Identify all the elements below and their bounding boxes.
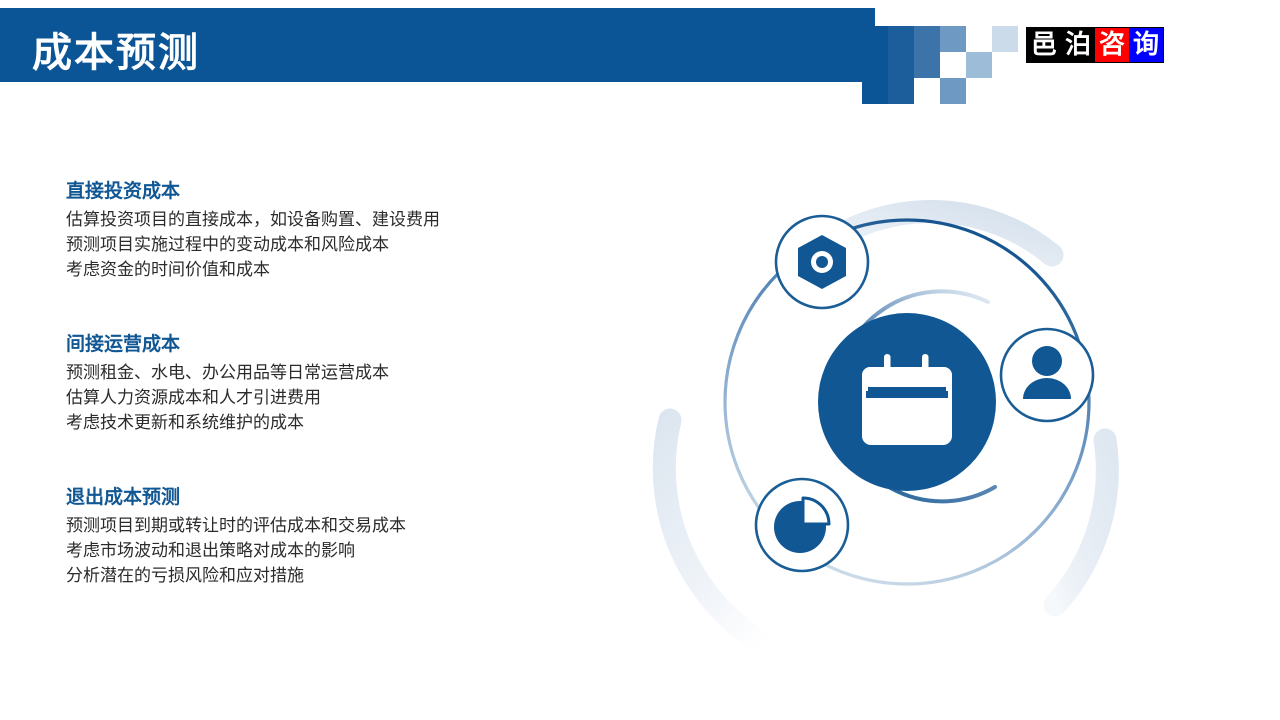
logo-char-bo: 泊 [1061,28,1095,62]
mosaic-tile [992,26,1018,52]
content-blocks: 直接投资成本 估算投资项目的直接成本，如设备购置、建设费用 预测项目实施过程中的… [66,178,536,589]
block-line: 估算投资项目的直接成本，如设备购置、建设费用 [66,208,536,233]
block-title: 直接投资成本 [66,178,536,205]
content-block-indirect-operating: 间接运营成本 预测租金、水电、办公用品等日常运营成本 估算人力资源成本和人才引进… [66,331,536,436]
orbital-icon-diagram [600,95,1200,695]
content-block-direct-investment: 直接投资成本 估算投资项目的直接成本，如设备购置、建设费用 预测项目实施过程中的… [66,178,536,283]
satellite-person [1001,329,1093,421]
mosaic-tile [888,26,914,52]
block-title: 退出成本预测 [66,484,536,511]
block-line: 预测项目实施过程中的变动成本和风险成本 [66,233,536,258]
checkerboard-decoration [862,8,1012,90]
logo-char-yi: 邑 [1027,28,1061,62]
logo-char-zi: 咨 [1095,28,1129,62]
logo-char-xun: 询 [1129,28,1163,62]
mosaic-tile [914,52,940,78]
block-line: 预测项目到期或转让时的评估成本和交易成本 [66,514,536,539]
satellite-pie-chart [756,479,848,571]
mosaic-tile [966,52,992,78]
company-logo: 邑 泊 咨 询 [1026,27,1164,63]
block-line: 预测租金、水电、办公用品等日常运营成本 [66,361,536,386]
block-line: 分析潜在的亏损风险和应对措施 [66,564,536,589]
block-title: 间接运营成本 [66,331,536,358]
mosaic-tile [914,26,940,52]
header-bar: 成本预测 [0,8,875,82]
page-title: 成本预测 [32,28,200,78]
mosaic-tile [862,26,888,52]
center-node [818,313,996,491]
satellite-hex-nut [776,216,868,308]
content-block-exit-cost: 退出成本预测 预测项目到期或转让时的评估成本和交易成本 考虑市场波动和退出策略对… [66,484,536,589]
block-line: 考虑市场波动和退出策略对成本的影响 [66,539,536,564]
mosaic-tile [862,52,888,78]
mosaic-tile [888,52,914,78]
block-line: 考虑技术更新和系统维护的成本 [66,411,536,436]
slide-root: 成本预测 邑 泊 咨 询 直接投资成本 估算投资项目的直接成本，如设备购置、建设… [0,0,1280,720]
block-line: 考虑资金的时间价值和成本 [66,258,536,283]
calendar-icon [862,354,952,445]
mosaic-tile [940,26,966,52]
block-line: 估算人力资源成本和人才引进费用 [66,386,536,411]
